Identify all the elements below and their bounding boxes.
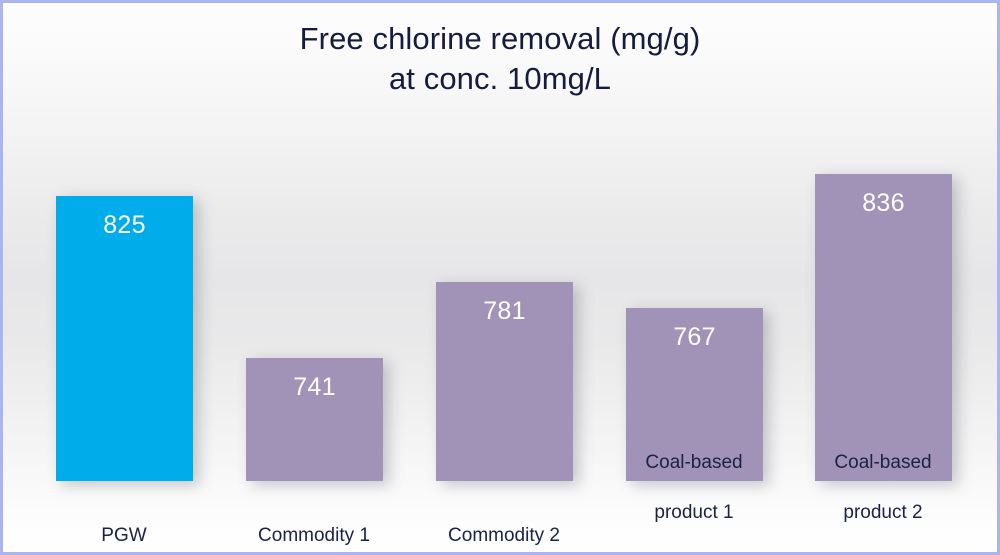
plot-area: 825 PGW 741 Commodity 1 781 Commodity 2 <box>3 3 1000 555</box>
chart-slide: Free chlorine removal (mg/g) at conc. 10… <box>0 0 1000 555</box>
category-label-pgw: PGW <box>40 498 208 548</box>
bar-value-commodity-1: 741 <box>246 372 383 402</box>
category-label-commodity-2: Commodity 2 <box>420 498 588 548</box>
category-label-commodity-1-line1: Commodity 1 <box>258 525 370 546</box>
bar-pgw[interactable]: 825 <box>56 196 193 481</box>
category-label-coal-based-product-1-line1: Coal-based <box>610 450 778 475</box>
bar-value-commodity-2: 781 <box>436 296 573 326</box>
bar-commodity-2[interactable]: 781 <box>436 282 573 481</box>
category-label-pgw-line1: PGW <box>101 525 146 546</box>
category-label-coal-based-product-2: Coal-based product 2 <box>799 425 967 550</box>
category-label-coal-based-product-2-line2: product 2 <box>799 500 967 525</box>
bar-commodity-1[interactable]: 741 <box>246 358 383 481</box>
bar-value-coal-based-product-1: 767 <box>626 322 763 352</box>
category-label-commodity-1: Commodity 1 <box>230 498 398 548</box>
bar-value-pgw: 825 <box>56 210 193 240</box>
category-label-coal-based-product-1: Coal-based product 1 <box>610 425 778 550</box>
category-label-commodity-2-line1: Commodity 2 <box>448 525 560 546</box>
category-label-coal-based-product-2-line1: Coal-based <box>799 450 967 475</box>
category-label-coal-based-product-1-line2: product 1 <box>610 500 778 525</box>
bar-value-coal-based-product-2: 836 <box>815 188 952 218</box>
